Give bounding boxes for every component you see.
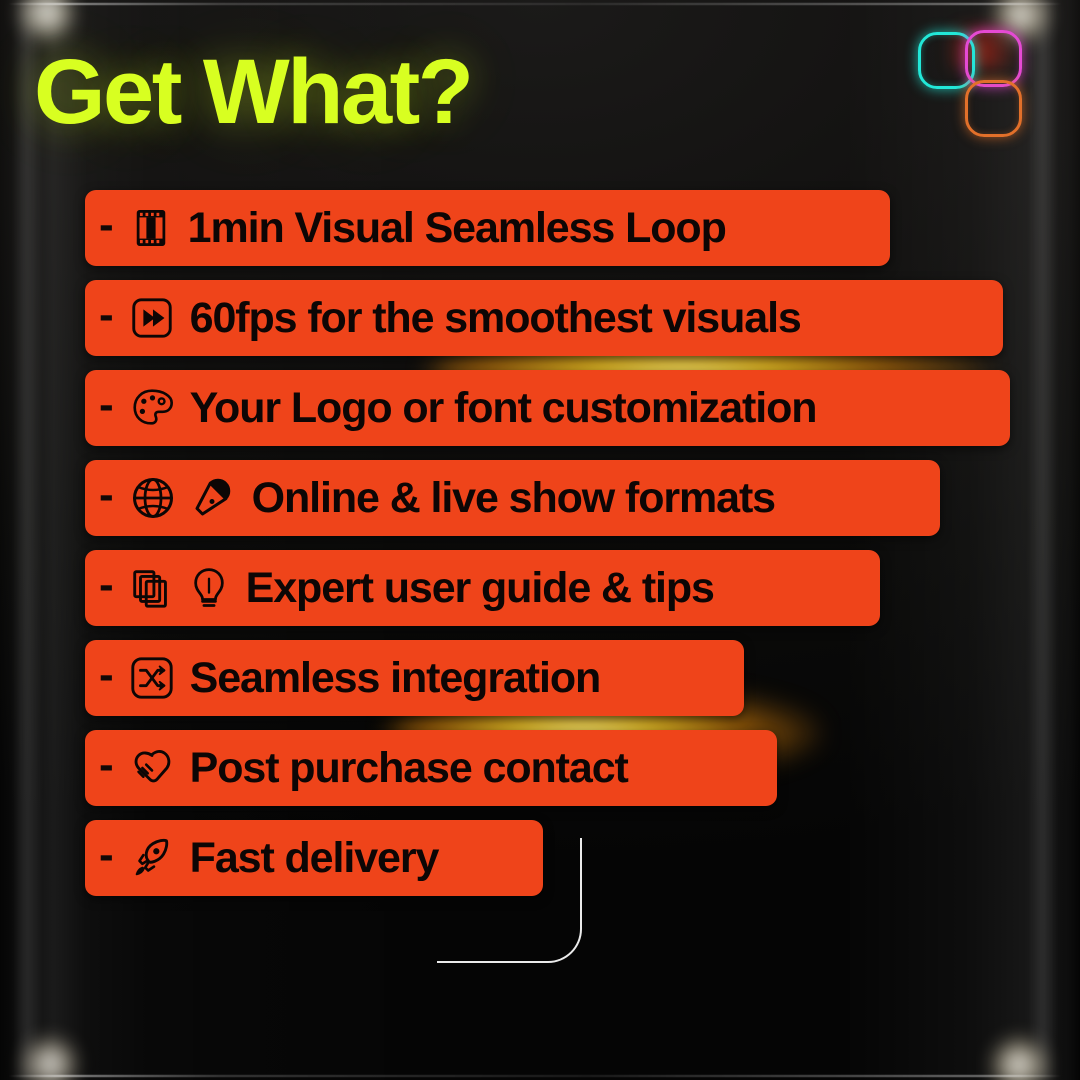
feature-label: Online & live show formats: [252, 477, 775, 520]
list-bullet-dash: -: [99, 383, 114, 427]
list-bullet-dash: -: [99, 203, 114, 247]
feature-icon-group: [128, 294, 176, 342]
palette-icon: [128, 384, 176, 432]
poster-canvas: Get What? -1min Visual Seamless Loop-60f…: [0, 0, 1080, 1080]
feature-list: -1min Visual Seamless Loop-60fps for the…: [85, 190, 1010, 910]
feature-icon-group: [128, 564, 232, 612]
film-strip-icon: [128, 205, 174, 251]
feature-list-item[interactable]: -Expert user guide & tips: [85, 550, 880, 626]
top-hairline: [8, 3, 1062, 5]
feature-list-item[interactable]: -Seamless integration: [85, 640, 744, 716]
feature-list-item[interactable]: -Your Logo or font customization: [85, 370, 1010, 446]
feature-list-item[interactable]: -60fps for the smoothest visuals: [85, 280, 1003, 356]
cards-stack-icon: [128, 564, 176, 612]
feature-list-item[interactable]: -1min Visual Seamless Loop: [85, 190, 890, 266]
fast-forward-icon: [128, 294, 176, 342]
feature-icon-group: [128, 205, 174, 251]
feature-list-item[interactable]: -Post purchase contact: [85, 730, 777, 806]
magenta-ring-icon: [965, 30, 1022, 87]
rocket-icon: [128, 834, 176, 882]
brand-logo: [918, 30, 1048, 160]
microphone-icon: [188, 473, 238, 523]
list-bullet-dash: -: [99, 473, 114, 517]
globe-icon: [128, 473, 178, 523]
list-bullet-dash: -: [99, 743, 114, 787]
feature-label: Post purchase contact: [190, 747, 628, 790]
bottom-hairline: [8, 1075, 1062, 1077]
feature-icon-group: [128, 384, 176, 432]
lightbulb-icon: [186, 565, 232, 611]
list-bullet-dash: -: [99, 293, 114, 337]
feature-label: 60fps for the smoothest visuals: [190, 297, 801, 340]
list-bullet-dash: -: [99, 833, 114, 877]
feature-icon-group: [128, 654, 176, 702]
page-title: Get What?: [34, 46, 471, 138]
feature-icon-group: [128, 834, 176, 882]
feature-list-item[interactable]: -Fast delivery: [85, 820, 543, 896]
feature-list-item[interactable]: -Online & live show formats: [85, 460, 940, 536]
feature-label: Your Logo or font customization: [190, 387, 817, 430]
list-bullet-dash: -: [99, 653, 114, 697]
shuffle-icon: [128, 654, 176, 702]
feature-icon-group: [128, 744, 176, 792]
right-edge-glare: [1030, 0, 1056, 1080]
feature-label: Seamless integration: [190, 657, 601, 700]
orange-ring-icon: [965, 80, 1022, 137]
feature-label: Expert user guide & tips: [246, 567, 714, 610]
feature-label: Fast delivery: [190, 837, 439, 880]
handshake-icon: [128, 744, 176, 792]
feature-label: 1min Visual Seamless Loop: [188, 207, 726, 250]
feature-icon-group: [128, 473, 238, 523]
left-edge-glare: [14, 0, 40, 1080]
list-bullet-dash: -: [99, 563, 114, 607]
